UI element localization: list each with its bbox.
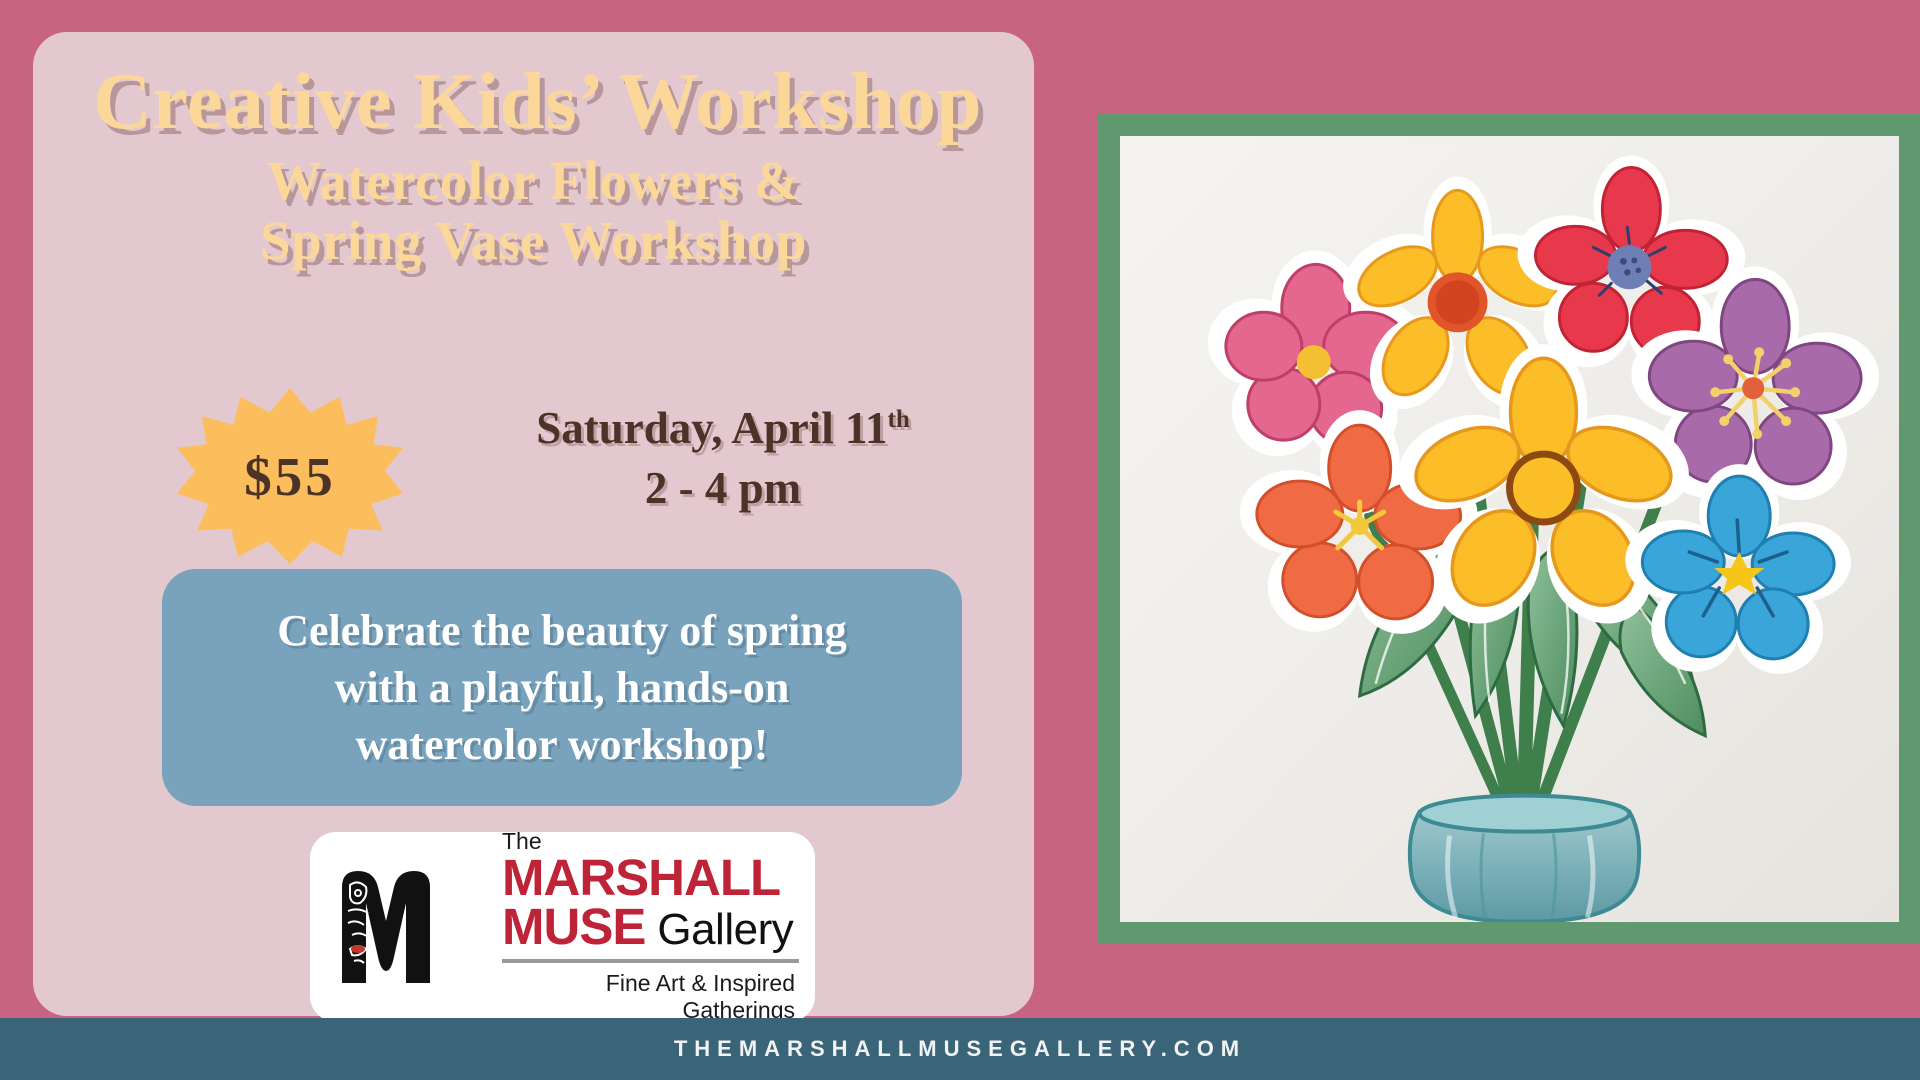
flyer-canvas: Creative Kids’ Workshop Watercolor Flowe… — [0, 0, 1920, 1080]
event-date: Saturday, April 11th — [463, 402, 983, 455]
content-card: Creative Kids’ Workshop Watercolor Flowe… — [33, 32, 1034, 1016]
photo-frame — [1098, 114, 1920, 944]
price-badge: $55 — [177, 388, 403, 564]
logo-text-block: The MARSHALL MUSE Gallery Fine Art & Ins… — [498, 830, 799, 1024]
date-time-block: Saturday, April 11th 2 - 4 pm — [463, 402, 983, 518]
website-url: THEMARSHALLMUSEGALLERY.COM — [674, 1036, 1246, 1062]
price-value: $55 — [244, 445, 336, 508]
subtitle-line-1: Watercolor Flowers & — [33, 153, 1034, 209]
logo-muse-label: MUSE — [502, 903, 645, 951]
page-title: Creative Kids’ Workshop — [33, 60, 1034, 143]
logo-marshall-row: MARSHALL — [502, 854, 799, 902]
event-time: 2 - 4 pm — [463, 459, 983, 518]
description-text: Celebrate the beauty of spring with a pl… — [277, 602, 847, 774]
logo-marshall-label: MARSHALL — [502, 854, 780, 902]
description-box: Celebrate the beauty of spring with a pl… — [162, 569, 962, 806]
logo-muse-row: MUSE Gallery — [502, 903, 799, 951]
gallery-logo-card: The MARSHALL MUSE Gallery Fine Art & Ins… — [310, 832, 815, 1022]
headline-block: Creative Kids’ Workshop Watercolor Flowe… — [33, 60, 1034, 269]
footer-bar: THEMARSHALLMUSEGALLERY.COM — [0, 1018, 1920, 1080]
subtitle-line-2: Spring Vase Workshop — [33, 213, 1034, 269]
flower-bouquet-photo — [1120, 136, 1899, 922]
event-date-ordinal: th — [888, 406, 910, 433]
event-date-text: Saturday, April 11 — [536, 403, 887, 453]
marshall-muse-m-logo-icon — [328, 857, 498, 997]
logo-gallery-label: Gallery — [657, 909, 793, 951]
logo-divider — [502, 959, 799, 963]
logo-tagline: Fine Art & Inspired Gatherings — [502, 970, 799, 1024]
